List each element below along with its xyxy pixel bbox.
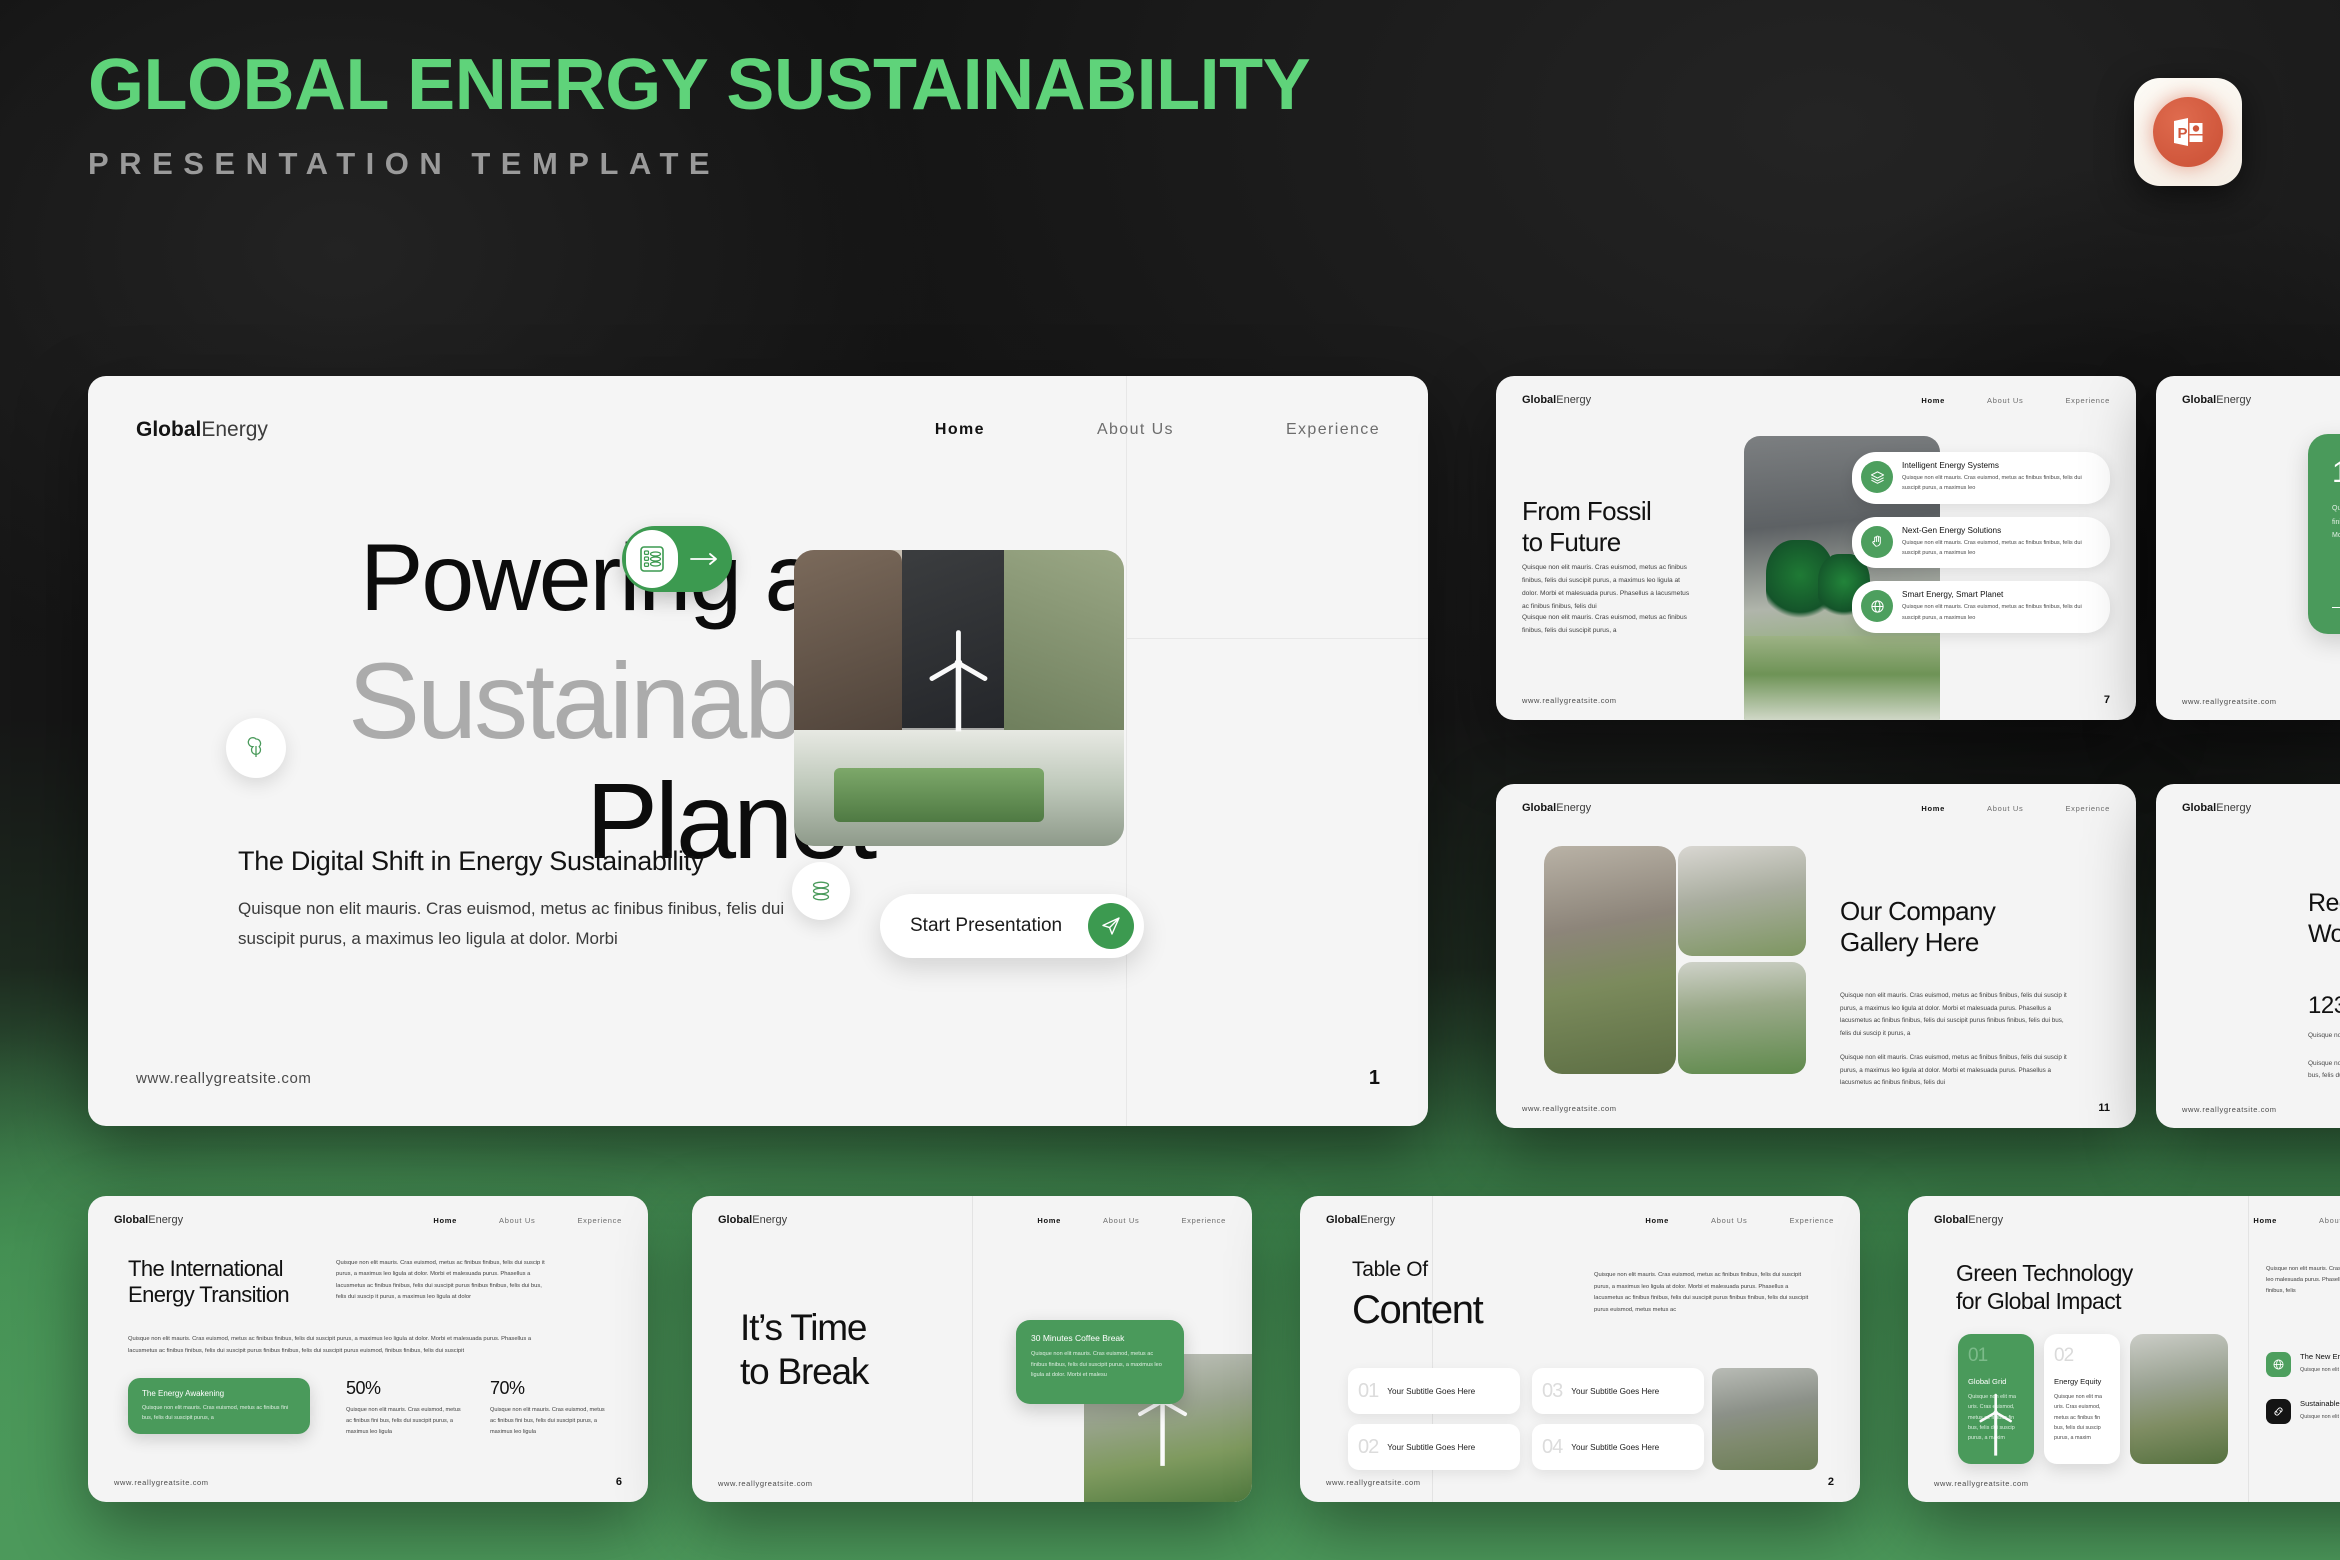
card-desc: Quisque non elit mauris. Cras euismod, m… bbox=[142, 1403, 296, 1423]
nav-link-about-us[interactable]: About Us bbox=[1103, 1216, 1139, 1225]
slide-divider bbox=[2248, 1196, 2249, 1502]
feature-card[interactable]: Smart Energy, Smart Planet Quisque non e… bbox=[1852, 581, 2110, 633]
powerpoint-badge: P bbox=[2134, 78, 2242, 186]
nav-links: Home About Us Experience bbox=[1645, 1216, 1834, 1225]
slide-navbar: GlobalEnergy Home About Us Experience bbox=[2182, 394, 2340, 406]
page-number: 11 bbox=[2098, 1102, 2110, 1114]
wind-turbine-illustration bbox=[926, 628, 992, 738]
hero-content: Powering a Sustainable Planet The Digita… bbox=[208, 376, 1428, 1126]
slide-recharging[interactable]: GlobalEnergy Home About Us Experience Re… bbox=[2156, 784, 2340, 1128]
card-number: 01 bbox=[1968, 1345, 2024, 1367]
link-icon bbox=[2266, 1399, 2291, 1424]
slide-footer: www.reallygreatsite.com bbox=[1934, 1479, 2340, 1488]
slide-time-to-break[interactable]: GlobalEnergy Home About Us Experience It… bbox=[692, 1196, 1252, 1502]
nav-link-home[interactable]: Home bbox=[1645, 1216, 1669, 1225]
nav-link-home[interactable]: Home bbox=[433, 1216, 457, 1225]
nav-links: Home About Us Experience bbox=[1921, 396, 2110, 405]
feature-title: Smart Energy, Smart Planet bbox=[1902, 590, 2097, 599]
footer-url: www.reallygreatsite.com bbox=[1522, 1104, 1617, 1113]
slide-stat-card[interactable]: GlobalEnergy Home About Us Experience 12… bbox=[2156, 376, 2340, 720]
slide-photo bbox=[1712, 1368, 1818, 1470]
gallery-photo-3 bbox=[1678, 962, 1806, 1074]
hero-paragraph: Quisque non elit mauris. Cras euismod, m… bbox=[238, 894, 838, 954]
slide-title-large: Content bbox=[1352, 1288, 1482, 1333]
stat-value: 123,45K+ bbox=[2308, 992, 2340, 1020]
stat-desc: Quisque non elit mauris. Cras euismod, m… bbox=[346, 1405, 464, 1438]
footer-url: www.reallygreatsite.com bbox=[1522, 696, 1617, 705]
card-title: Energy Equity bbox=[2054, 1377, 2110, 1386]
slide-body: Quisque non elit mauris. Cras euismod, m… bbox=[1594, 1270, 1816, 1316]
server-stack-icon bbox=[626, 530, 678, 588]
poster-header: GLOBAL ENERGY SUSTAINABILITY PRESENTATIO… bbox=[88, 48, 1310, 182]
card-desc: Quisque non elit mauris. Cras euismod, m… bbox=[1031, 1349, 1169, 1381]
nav-link-about-us[interactable]: About Us bbox=[499, 1216, 535, 1225]
stat-block: 50% Quisque non elit mauris. Cras euismo… bbox=[346, 1378, 464, 1438]
brand-logo: GlobalEnergy bbox=[1326, 1214, 1395, 1226]
slide-footer: www.reallygreatsite.com bbox=[2182, 1105, 2340, 1114]
stat-block: 70% Quisque non elit mauris. Cras euismo… bbox=[490, 1378, 608, 1438]
gallery-photo-2 bbox=[1678, 846, 1806, 956]
slide-international-energy-transition[interactable]: GlobalEnergy Home About Us Experience Th… bbox=[88, 1196, 648, 1502]
globe-icon bbox=[1861, 590, 1893, 622]
brand-logo: GlobalEnergy bbox=[2182, 802, 2251, 814]
row-desc: Quisque non elit mauris. Cr bus finibus,… bbox=[2300, 1412, 2340, 1422]
stat-value: 123,46K+ bbox=[2332, 456, 2340, 490]
arrow-right-icon[interactable] bbox=[2332, 607, 2340, 609]
start-presentation-button[interactable]: Start Presentation bbox=[880, 894, 1144, 958]
brand-logo: GlobalEnergy bbox=[1522, 802, 1591, 814]
slide-body-2: Quisque non elit mauris. Cras euismod, m… bbox=[2308, 1058, 2340, 1083]
hero-slide[interactable]: GlobalEnergy Home About Us Experience Po… bbox=[88, 376, 1428, 1126]
poster-title: GLOBAL ENERGY SUSTAINABILITY bbox=[88, 48, 1310, 124]
slide-body: Quisque non elit mauris. Cras euismod, f… bbox=[2266, 1264, 2340, 1297]
hero-photo bbox=[794, 550, 1124, 846]
slide-title: Green Technology for Global Impact bbox=[1956, 1260, 2133, 1315]
brand-logo: GlobalEnergy bbox=[718, 1214, 787, 1226]
green-tech-rows: The New Energy Ag Quisque non elit mauri… bbox=[2266, 1352, 2340, 1424]
slide-footer: www.reallygreatsite.com 2 bbox=[1326, 1476, 1834, 1488]
poster-canvas: GLOBAL ENERGY SUSTAINABILITY PRESENTATIO… bbox=[0, 0, 2340, 1560]
toc-list: 01 Your Subtitle Goes Here 03 Your Subti… bbox=[1348, 1368, 1704, 1470]
slide-body-1: Quisque non elit mauris. Cras euismod, m… bbox=[1522, 562, 1694, 613]
nav-link-about-us[interactable]: About Us bbox=[1987, 396, 2023, 405]
toc-number: 01 bbox=[1358, 1380, 1378, 1403]
nav-link-experience[interactable]: Experience bbox=[2065, 804, 2110, 813]
nav-link-home[interactable]: Home bbox=[1921, 804, 1945, 813]
gallery-photo-1 bbox=[1544, 846, 1676, 1074]
feature-card[interactable]: Intelligent Energy Systems Quisque non e… bbox=[1852, 452, 2110, 504]
brand-logo: GlobalEnergy bbox=[2182, 394, 2251, 406]
hero-headline-line1: Powering a bbox=[360, 524, 815, 633]
page-number: 6 bbox=[616, 1476, 622, 1488]
page-number: 1 bbox=[1369, 1067, 1380, 1090]
slide-title: Our Company Gallery Here bbox=[1840, 896, 1995, 957]
row-title: Sustainable Energy bbox=[2300, 1399, 2340, 1408]
nav-link-experience[interactable]: Experience bbox=[1181, 1216, 1226, 1225]
nav-links: Home About Us Experience bbox=[433, 1216, 622, 1225]
footer-url: www.reallygreatsite.com bbox=[2182, 697, 2277, 706]
toc-label: Your Subtitle Goes Here bbox=[1387, 1443, 1475, 1452]
slide-table-of-content[interactable]: GlobalEnergy Home About Us Experience Ta… bbox=[1300, 1196, 1860, 1502]
slide-divider bbox=[972, 1196, 973, 1502]
nav-link-experience[interactable]: Experience bbox=[577, 1216, 622, 1225]
slide-navbar: GlobalEnergy Home About Us Experience bbox=[1522, 394, 2110, 406]
toc-label: Your Subtitle Goes Here bbox=[1571, 1387, 1659, 1396]
green-highlight-card: The Energy Awakening Quisque non elit ma… bbox=[128, 1378, 310, 1434]
nav-link-home[interactable]: Home bbox=[2253, 1216, 2277, 1225]
nav-links: Home About Us Experience bbox=[1037, 1216, 1226, 1225]
feature-card-list: Intelligent Energy Systems Quisque non e… bbox=[1852, 452, 2110, 633]
slide-title: It’s Time to Break bbox=[740, 1306, 868, 1393]
slide-photo bbox=[2130, 1334, 2228, 1464]
card-title: Global Grid bbox=[1968, 1377, 2024, 1386]
footer-url: www.reallygreatsite.com bbox=[114, 1478, 209, 1487]
hero-toggle-badge[interactable] bbox=[622, 526, 732, 592]
footer-url: www.reallygreatsite.com bbox=[136, 1070, 312, 1087]
nav-links: Home About Us Experience bbox=[1921, 804, 2110, 813]
database-icon bbox=[792, 862, 850, 920]
toc-item[interactable]: 02 Your Subtitle Goes Here bbox=[1348, 1424, 1520, 1470]
feature-desc: Quisque non elit mauris. Cras euismod, m… bbox=[1902, 538, 2097, 559]
feature-title: Next-Gen Energy Solutions bbox=[1902, 526, 2097, 535]
slide-body-1: Quisque non elit mauris. Cras bbox=[2308, 1030, 2340, 1042]
toc-item[interactable]: 01 Your Subtitle Goes Here bbox=[1348, 1368, 1520, 1414]
footer-url: www.reallygreatsite.com bbox=[1326, 1478, 1421, 1487]
slide-body-right: Quisque non elit mauris. Cras euismod, m… bbox=[336, 1258, 546, 1303]
footer-url: www.reallygreatsite.com bbox=[1934, 1479, 2029, 1488]
feature-desc: Quisque non elit mauris. Cras euismod, m… bbox=[1902, 602, 2097, 623]
card-title: 30 Minutes Coffee Break bbox=[1031, 1333, 1169, 1343]
slide-navbar: GlobalEnergy Home About Us Experience bbox=[718, 1214, 1226, 1226]
row-title: The New Energy Ag bbox=[2300, 1352, 2340, 1361]
slide-body-wide: Quisque non elit mauris. Cras euismod, m… bbox=[128, 1334, 548, 1357]
slide-navbar: GlobalEnergy Home About Us Experience bbox=[2182, 802, 2340, 814]
tech-card[interactable]: 02 Energy Equity Quisque non elit ma uri… bbox=[2044, 1334, 2120, 1464]
slide-green-technology[interactable]: GlobalEnergy Home About Us Experience Gr… bbox=[1908, 1196, 2340, 1502]
slide-navbar: GlobalEnergy Home About Us Experience bbox=[114, 1214, 622, 1226]
stat-card: 123,46K+ Quisque non elit mauris. Cras e… bbox=[2308, 434, 2340, 634]
svg-text:P: P bbox=[2178, 125, 2188, 142]
slide-title-small: Table Of bbox=[1352, 1258, 1428, 1282]
slide-body-2: Quisque non elit mauris. Cras euismod, m… bbox=[1522, 612, 1694, 638]
card-number: 02 bbox=[2054, 1345, 2110, 1367]
footer-url: www.reallygreatsite.com bbox=[2182, 1105, 2277, 1114]
slide-navbar: GlobalEnergy Home About Us Experience bbox=[1326, 1214, 1834, 1226]
start-presentation-label: Start Presentation bbox=[910, 915, 1062, 937]
toc-label: Your Subtitle Goes Here bbox=[1571, 1443, 1659, 1452]
slide-footer: www.reallygreatsite.com bbox=[718, 1479, 1226, 1488]
toc-item[interactable]: 04 Your Subtitle Goes Here bbox=[1532, 1424, 1704, 1470]
arrow-right-icon bbox=[678, 552, 732, 566]
brand-logo: GlobalEnergy bbox=[114, 1214, 183, 1226]
leaf-tree-icon bbox=[226, 718, 286, 778]
stat-desc: Quisque non elit mauris. Cras euismod, m… bbox=[490, 1405, 608, 1438]
row-desc: Quisque non elit mauris. Cr bus finibus,… bbox=[2300, 1365, 2340, 1375]
layers-icon bbox=[1861, 461, 1893, 493]
slide-title: The International Energy Transition bbox=[128, 1256, 289, 1308]
slide-footer: www.reallygreatsite.com 6 bbox=[114, 1476, 622, 1488]
page-number: 2 bbox=[1828, 1476, 1834, 1488]
brand-logo: GlobalEnergy bbox=[1934, 1214, 2003, 1226]
poster-subtitle: PRESENTATION TEMPLATE bbox=[88, 146, 1310, 182]
nav-link-home[interactable]: Home bbox=[1921, 396, 1945, 405]
toc-label: Your Subtitle Goes Here bbox=[1387, 1387, 1475, 1396]
slide-footer: www.reallygreatsite.com 11 bbox=[1522, 1102, 2110, 1114]
green-highlight-card: 30 Minutes Coffee Break Quisque non elit… bbox=[1016, 1320, 1184, 1404]
nav-links: Home About Us Experience bbox=[2253, 1216, 2340, 1225]
powerpoint-icon: P bbox=[2153, 97, 2223, 167]
slide-navbar: GlobalEnergy Home About Us Experience bbox=[1934, 1214, 2340, 1226]
slide-from-fossil-to-future[interactable]: GlobalEnergy Home About Us Experience Fr… bbox=[1496, 376, 2136, 720]
slide-title: From Fossil to Future bbox=[1522, 496, 1651, 557]
card-title: The Energy Awakening bbox=[142, 1389, 296, 1398]
green-tech-cards: 01 Global Grid Quisque non elit ma uris.… bbox=[1958, 1334, 2228, 1464]
slide-footer: www.reallygreatsite.com bbox=[2182, 697, 2340, 706]
hero-footer: www.reallygreatsite.com 1 bbox=[136, 1067, 1380, 1090]
feature-desc: Quisque non elit mauris. Cras euismod, m… bbox=[1902, 473, 2097, 494]
slide-company-gallery[interactable]: GlobalEnergy Home About Us Experience Ou… bbox=[1496, 784, 2136, 1128]
card-desc: Quisque non elit ma uris. Cras euismod, … bbox=[2054, 1392, 2110, 1443]
hand-icon bbox=[1861, 526, 1893, 558]
nav-link-about-us[interactable]: About Us bbox=[1987, 804, 2023, 813]
brand-logo: GlobalEnergy bbox=[1522, 394, 1591, 406]
globe-icon bbox=[2266, 1352, 2291, 1377]
toc-number: 04 bbox=[1542, 1436, 1562, 1459]
nav-link-home[interactable]: Home bbox=[1037, 1216, 1061, 1225]
nav-link-about-us[interactable]: About Us bbox=[1711, 1216, 1747, 1225]
toc-number: 03 bbox=[1542, 1380, 1562, 1403]
feature-card[interactable]: Next-Gen Energy Solutions Quisque non el… bbox=[1852, 517, 2110, 569]
page-number: 7 bbox=[2104, 694, 2110, 706]
stat-percent: 50% bbox=[346, 1378, 464, 1399]
toc-item[interactable]: 03 Your Subtitle Goes Here bbox=[1532, 1368, 1704, 1414]
paper-plane-icon bbox=[1088, 903, 1134, 949]
toc-number: 02 bbox=[1358, 1436, 1378, 1459]
feature-title: Intelligent Energy Systems bbox=[1902, 461, 2097, 470]
stat-percent: 70% bbox=[490, 1378, 608, 1399]
slide-footer: www.reallygreatsite.com 7 bbox=[1522, 694, 2110, 706]
slide-navbar: GlobalEnergy Home About Us Experience bbox=[1522, 802, 2110, 814]
hero-subheading: The Digital Shift in Energy Sustainabili… bbox=[238, 846, 704, 877]
tech-row[interactable]: Sustainable Energy Quisque non elit maur… bbox=[2266, 1399, 2340, 1424]
slide-body-2: Quisque non elit mauris. Cras euismod, m… bbox=[1840, 1052, 2076, 1090]
slide-body-1: Quisque non elit mauris. Cras euismod, m… bbox=[1840, 990, 2076, 1040]
nav-link-about-us[interactable]: About Us bbox=[2319, 1216, 2340, 1225]
nav-link-experience[interactable]: Experience bbox=[2065, 396, 2110, 405]
stat-description: Quisque non elit mauris. Cras euism od, … bbox=[2332, 502, 2340, 543]
nav-link-experience[interactable]: Experience bbox=[1789, 1216, 1834, 1225]
tech-row[interactable]: The New Energy Ag Quisque non elit mauri… bbox=[2266, 1352, 2340, 1377]
slide-title: Recharging World Resp bbox=[2308, 888, 2340, 949]
footer-url: www.reallygreatsite.com bbox=[718, 1479, 813, 1488]
